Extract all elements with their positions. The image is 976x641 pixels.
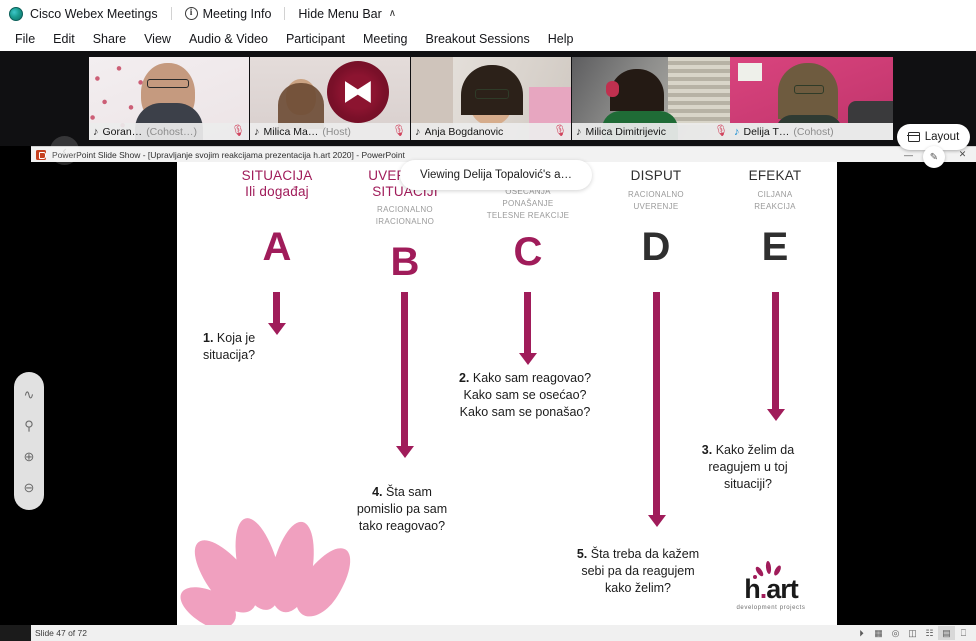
headset-speaking-icon: ♪ [734, 126, 740, 138]
headset-icon: ♪ [576, 126, 582, 138]
column-letter: C [462, 232, 594, 272]
headset-icon: ♪ [415, 126, 421, 138]
column-heading-line1: SITUACIJA [211, 168, 343, 184]
pen-icon[interactable]: ∿ [18, 384, 40, 406]
headset-icon: ♪ [93, 126, 99, 138]
column-subtext-line: TELESNE REAKCIJE [462, 210, 594, 222]
participant-name: Milica Ma… [264, 126, 319, 138]
column-subtext-line: CILJANA [709, 189, 837, 201]
participant-name: Milica Dimitrijevic [586, 126, 667, 138]
caption-line: Kako sam se ponašao? [425, 404, 625, 421]
meeting-info-label: Meeting Info [203, 7, 272, 21]
caption-line: situacija? [203, 347, 333, 364]
participant-role: (Cohost) [793, 126, 833, 138]
webex-meeting-window: Cisco Webex Meetings i Meeting Info Hide… [0, 0, 976, 641]
divider [284, 7, 285, 20]
arrow-e [772, 292, 779, 410]
column-subtext-line: PONAŠANJE [462, 198, 594, 210]
participant-role: (Cohost…) [146, 126, 197, 138]
column-letter: B [339, 242, 471, 282]
caption-line: reagujem u toj [680, 459, 816, 476]
glasses-icon [794, 85, 824, 94]
column-subtext-line: REAKCIJA [709, 201, 837, 213]
participant-tile-delija-topalovic[interactable]: ♪ Delija T… (Cohost) [730, 57, 893, 140]
reading-view-icon[interactable]: ▤ [938, 626, 955, 640]
hart-wordmark: h.art [723, 576, 819, 603]
arrow-a [273, 292, 280, 324]
play-icon[interactable]: ◎ [887, 626, 904, 640]
hart-logo: h.art development projects [723, 576, 819, 611]
powerpoint-title: PowerPoint Slide Show - [Upravljanje svo… [52, 150, 405, 160]
menu-edit[interactable]: Edit [44, 30, 84, 48]
arrow-d [653, 292, 660, 516]
video-background-paper [738, 63, 762, 81]
participant-name: Anja Bogdanovic [425, 126, 504, 138]
caption-1: 1. Koja je situacija? [203, 330, 333, 364]
notes-icon[interactable]: ▦ [870, 626, 887, 640]
headset-icon: ♪ [254, 126, 260, 138]
caption-text: Šta sam [386, 485, 432, 499]
laser-pointer-icon[interactable]: ⚲ [18, 415, 40, 437]
caption-number: 1. [203, 331, 213, 345]
slide-column-a: SITUACIJA Ili događaj A [211, 162, 343, 267]
column-subtext-line: IRACIONALNO [339, 216, 471, 228]
participant-role: (Host) [322, 126, 351, 138]
column-heading-line2: Ili događaj [211, 184, 343, 200]
column-subtext: RACIONALNO IRACIONALNO [339, 204, 471, 228]
meeting-info-button[interactable]: i Meeting Info [185, 7, 272, 21]
viewing-indicator[interactable]: Viewing Delija Topalović's a… [400, 160, 592, 190]
caption-number: 3. [702, 443, 712, 457]
slide-stage: SITUACIJA Ili događaj A UVERENJE SITUACI… [31, 162, 976, 625]
caption-line: sebi pa da reagujem [553, 563, 723, 580]
webex-app-title: Cisco Webex Meetings [30, 7, 158, 21]
video-background-logo [327, 61, 389, 123]
participant-tile-goran[interactable]: ♪ Goran… (Cohost…) 🎙 [89, 57, 249, 140]
webex-logo-icon [9, 7, 23, 21]
annotate-button[interactable]: ✎ [923, 146, 945, 168]
column-subtext-line: RACIONALNO [339, 204, 471, 216]
caption-number: 2. [459, 371, 469, 385]
glasses-icon [147, 79, 189, 88]
caption-line: pomislio pa sam [336, 501, 468, 518]
arrow-c [524, 292, 531, 354]
caption-text: Koja je [217, 331, 255, 345]
column-subtext: CILJANA REAKCIJA [709, 189, 837, 213]
video-background-blinds [668, 57, 732, 125]
column-subtext: OSEĆANJA PONAŠANJE TELESNE REAKCIJE [462, 186, 594, 222]
participant-tile-anja-bogdanovic[interactable]: ♪ Anja Bogdanovic 🎙 [411, 57, 571, 140]
normal-view-icon[interactable]: ◫ [904, 626, 921, 640]
menu-share[interactable]: Share [84, 30, 135, 48]
column-subtext: RACIONALNO UVERENJE [590, 189, 722, 213]
hart-art: art [766, 574, 798, 604]
mic-muted-icon: 🎙 [553, 126, 567, 137]
participant-name: Delija T… [744, 126, 790, 138]
caption-number: 5. [577, 547, 587, 561]
caption-3: 3. Kako želim da reagujem u toj situacij… [680, 442, 816, 493]
pencil-icon: ✎ [930, 152, 938, 163]
caption-number: 4. [372, 485, 382, 499]
column-subtext-line: UVERENJE [590, 201, 722, 213]
caption-2: 2. Kako sam reagovao? Kako sam se osećao… [425, 370, 625, 421]
caption-line: 1. Koja je [203, 330, 333, 347]
menu-help[interactable]: Help [539, 30, 583, 48]
menu-view[interactable]: View [135, 30, 180, 48]
webex-titlebar: Cisco Webex Meetings i Meeting Info Hide… [0, 0, 976, 27]
participant-tile-milica-ma[interactable]: ♪ Milica Ma… (Host) 🎙 [250, 57, 410, 140]
slide-column-e: EFEKAT CILJANA REAKCIJA E [709, 162, 837, 267]
caption-line: Kako sam se osećao? [425, 387, 625, 404]
caption-line: 4. Šta sam [336, 484, 468, 501]
volume-icon[interactable]: ⏵ [853, 626, 870, 640]
caption-line: tako reagovao? [336, 518, 468, 535]
participant-namebar: ♪ Delija T… (Cohost) [730, 123, 893, 140]
caption-text: Kako želim da [716, 443, 795, 457]
column-subtext-line: RACIONALNO [590, 189, 722, 201]
hart-h: h [744, 574, 760, 604]
caption-line: kako želim? [553, 580, 723, 597]
divider [171, 7, 172, 20]
hide-menu-bar-button[interactable]: Hide Menu Bar ∧ [298, 7, 396, 21]
sorter-view-icon[interactable]: ☷ [921, 626, 938, 640]
presenter-pen-toolbar: ∿ ⚲ ⊕ ⊖ [14, 372, 44, 510]
caption-5: 5. Šta treba da kažem sebi pa da reaguje… [553, 546, 723, 597]
participant-namebar: ♪ Anja Bogdanovic 🎙 [411, 123, 571, 140]
mic-muted-icon: 🎙 [231, 126, 245, 137]
menu-meeting[interactable]: Meeting [354, 30, 416, 48]
hide-menu-bar-label: Hide Menu Bar [298, 7, 381, 21]
powerpoint-statusbar: Slide 47 of 72 ⏵ ▦ ◎ ◫ ☷ ▤ ⎕ [31, 625, 976, 641]
status-view-controls: ⏵ ▦ ◎ ◫ ☷ ▤ ⎕ [853, 626, 972, 640]
menu-breakout-sessions[interactable]: Breakout Sessions [416, 30, 538, 48]
column-letter: D [590, 227, 722, 267]
menu-participant[interactable]: Participant [277, 30, 354, 48]
powerpoint-icon [36, 150, 46, 160]
participant-tile-milica-dimitrijevic[interactable]: ♪ Milica Dimitrijevic 🎙 [572, 57, 732, 140]
layout-icon [908, 132, 920, 142]
chevron-left-icon: ‹ [62, 143, 66, 158]
column-letter: E [709, 227, 837, 267]
column-heading: SITUACIJA Ili događaj [211, 168, 343, 199]
webex-menubar: File Edit Share View Audio & Video Parti… [0, 27, 976, 51]
column-heading: DISPUT [590, 168, 722, 184]
slide-canvas: SITUACIJA Ili događaj A UVERENJE SITUACI… [177, 162, 837, 625]
zoom-in-icon[interactable]: ⊕ [18, 446, 40, 468]
slide-column-d: DISPUT RACIONALNO UVERENJE D [590, 162, 722, 267]
participant-video-filmstrip: ‹ ♪ Goran… (Cohost…) 🎙 [0, 51, 976, 146]
zoom-out-icon[interactable]: ⊖ [18, 477, 40, 499]
layout-label: Layout [925, 131, 960, 143]
menu-audio-video[interactable]: Audio & Video [180, 30, 277, 48]
headphone-icon [606, 81, 619, 97]
hart-tagline: development projects [723, 605, 819, 611]
chevron-up-icon: ∧ [389, 8, 396, 19]
filmstrip-previous-button[interactable]: ‹ [50, 136, 79, 165]
caption-4: 4. Šta sam pomislio pa sam tako reagovao… [336, 484, 468, 535]
status-letterbox [0, 625, 31, 641]
caption-text: Šta treba da kažem [591, 547, 699, 561]
mic-muted-icon: 🎙 [392, 126, 406, 137]
participant-namebar: ♪ Milica Ma… (Host) 🎙 [250, 123, 410, 140]
participant-namebar: ♪ Milica Dimitrijevic 🎙 [572, 123, 732, 140]
slideshow-icon[interactable]: ⎕ [955, 626, 972, 640]
mic-muted-icon: 🎙 [714, 126, 728, 137]
slide-counter: Slide 47 of 72 [35, 628, 87, 638]
arrow-b [401, 292, 408, 447]
participant-namebar: ♪ Goran… (Cohost…) 🎙 [89, 123, 249, 140]
column-heading-line1: DISPUT [590, 168, 722, 184]
caption-text: Kako sam reagovao? [473, 371, 591, 385]
glasses-icon [475, 89, 509, 99]
caption-line: situaciji? [680, 476, 816, 493]
info-icon: i [185, 7, 198, 20]
caption-line: 5. Šta treba da kažem [553, 546, 723, 563]
column-letter: A [211, 227, 343, 267]
menu-file[interactable]: File [6, 30, 44, 48]
column-heading: EFEKAT [709, 168, 837, 184]
column-heading-line1: EFEKAT [709, 168, 837, 184]
caption-line: 3. Kako želim da [680, 442, 816, 459]
caption-line: 2. Kako sam reagovao? [425, 370, 625, 387]
participant-name: Goran… [103, 126, 143, 138]
